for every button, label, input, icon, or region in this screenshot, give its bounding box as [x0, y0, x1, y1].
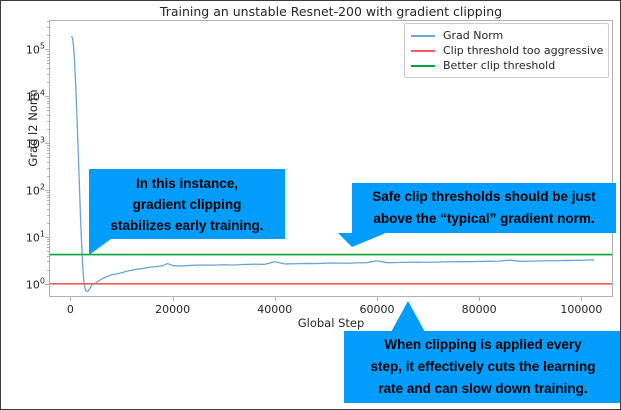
x-tick-label: 40000	[235, 303, 315, 316]
x-axis-label: Global Step	[49, 316, 613, 330]
legend-item: Clip threshold too aggressive	[411, 43, 602, 58]
x-tick-label: 80000	[439, 303, 519, 316]
page-title: Training an unstable Resnet-200 with gra…	[49, 4, 613, 19]
x-tick-mark	[581, 297, 582, 301]
annotation-callout-safe-threshold: Safe clip thresholds should be just abov…	[352, 183, 616, 233]
y-tick-label: 103	[1, 136, 45, 151]
legend-swatch-icon	[411, 35, 435, 37]
y-tick-label: 104	[1, 89, 45, 104]
legend-swatch-icon	[411, 50, 435, 52]
y-tick-label: 101	[1, 230, 45, 245]
callout-2-tail	[338, 233, 386, 247]
chart-screenshot: Training an unstable Resnet-200 with gra…	[0, 0, 621, 410]
legend-label: Grad Norm	[443, 29, 503, 42]
legend-label: Clip threshold too aggressive	[443, 44, 603, 57]
callout-3-tail	[391, 301, 425, 332]
legend-swatch-icon	[411, 65, 435, 67]
annotation-callout-slow-training: When clipping is applied every step, it …	[344, 331, 621, 403]
legend-item: Grad Norm	[411, 28, 602, 43]
legend-label: Better clip threshold	[443, 59, 555, 72]
x-tick-label: 0	[30, 303, 110, 316]
callout-3-text: When clipping is applied every step, it …	[344, 334, 621, 400]
callout-1-text: In this instance, gradient clipping stab…	[89, 173, 285, 236]
x-tick-mark	[377, 297, 378, 301]
y-tick-label: 102	[1, 183, 45, 198]
chart-legend: Grad NormClip threshold too aggressiveBe…	[404, 23, 609, 78]
y-tick-label: 105	[1, 42, 45, 57]
x-tick-label: 20000	[133, 303, 213, 316]
x-tick-mark	[173, 297, 174, 301]
matplotlib-figure: Training an unstable Resnet-200 with gra…	[1, 1, 621, 410]
y-tick-label: 100	[1, 276, 45, 291]
callout-2-text: Safe clip thresholds should be just abov…	[352, 186, 616, 230]
x-tick-mark	[70, 297, 71, 301]
annotation-callout-early-training: In this instance, gradient clipping stab…	[89, 169, 285, 239]
callout-1-tail	[89, 239, 111, 255]
x-tick-mark	[479, 297, 480, 301]
legend-item: Better clip threshold	[411, 58, 602, 73]
x-tick-label: 100000	[541, 303, 621, 316]
x-tick-mark	[275, 297, 276, 301]
